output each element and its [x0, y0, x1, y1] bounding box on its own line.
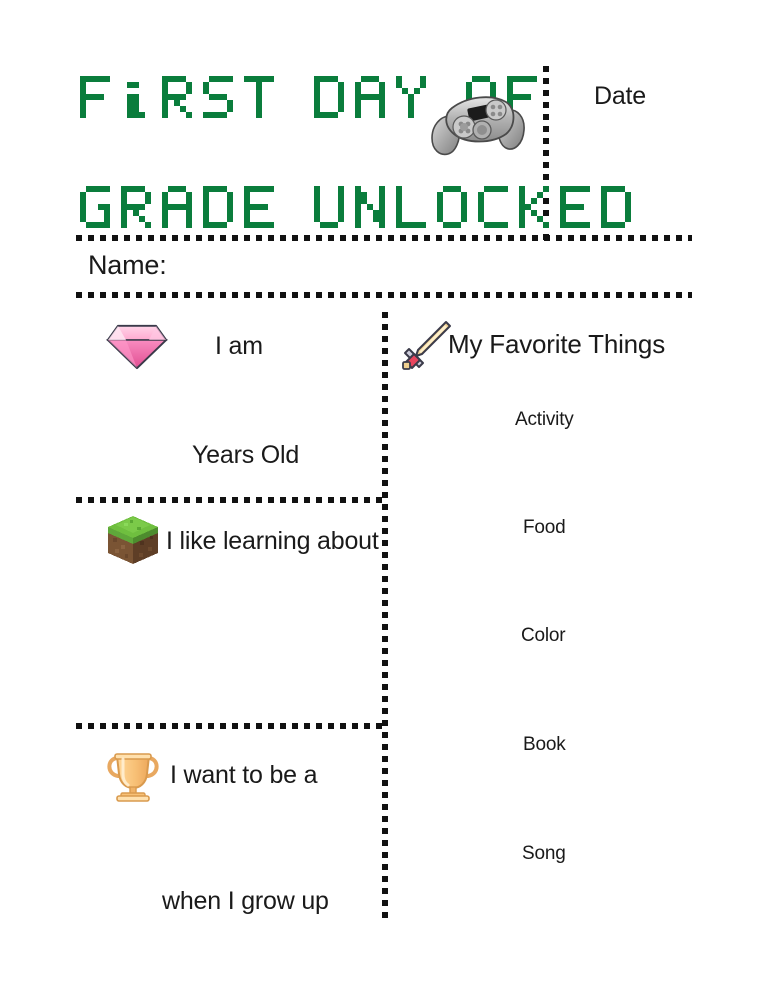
divider-above-name	[76, 235, 692, 241]
favorite-item-activity: Activity	[515, 409, 574, 431]
favorite-item-book: Book	[523, 734, 566, 756]
title-glyph	[560, 186, 590, 228]
suffix-when-i-grow-up: when I grow up	[162, 887, 329, 916]
title-glyph	[80, 186, 110, 228]
favorite-item-food: Food	[523, 517, 566, 539]
title-glyph	[285, 76, 303, 118]
page-title-line-2	[80, 186, 631, 228]
body-vertical-divider	[382, 312, 388, 922]
title-glyph	[355, 76, 385, 118]
title-glyph	[437, 186, 467, 228]
sword-icon	[400, 318, 454, 372]
title-glyph	[203, 76, 233, 118]
title-glyph	[162, 76, 192, 118]
pink-gem-icon	[106, 320, 168, 372]
title-glyph	[285, 186, 303, 228]
trophy-icon	[104, 750, 162, 802]
game-controller-icon	[428, 86, 528, 158]
grass-block-icon	[106, 514, 160, 568]
title-glyph	[121, 76, 151, 118]
divider-section-1-2	[76, 497, 386, 503]
title-glyph	[519, 186, 549, 228]
title-glyph	[244, 76, 274, 118]
title-glyph	[314, 76, 344, 118]
worksheet-page: Date Name:	[0, 0, 768, 994]
title-glyph	[80, 76, 110, 118]
title-glyph	[396, 76, 426, 118]
divider-below-name	[76, 292, 692, 298]
divider-section-2-3	[76, 723, 386, 729]
favorite-item-color: Color	[521, 625, 565, 647]
suffix-years-old: Years Old	[192, 441, 299, 470]
title-glyph	[162, 186, 192, 228]
name-label: Name:	[88, 250, 167, 281]
title-glyph	[601, 186, 631, 228]
date-label: Date	[594, 82, 646, 111]
title-glyph	[478, 186, 508, 228]
prompt-i-want-to-be-a: I want to be a	[170, 761, 317, 790]
favorite-item-song: Song	[522, 843, 566, 865]
title-glyph	[396, 186, 426, 228]
prompt-i-like-learning-about: I like learning about	[166, 527, 379, 556]
prompt-i-am: I am	[215, 332, 263, 361]
title-glyph	[203, 186, 233, 228]
title-glyph	[121, 186, 151, 228]
title-glyph	[314, 186, 344, 228]
title-glyph	[244, 186, 274, 228]
title-glyph	[355, 186, 385, 228]
favorites-heading: My Favorite Things	[448, 329, 665, 360]
